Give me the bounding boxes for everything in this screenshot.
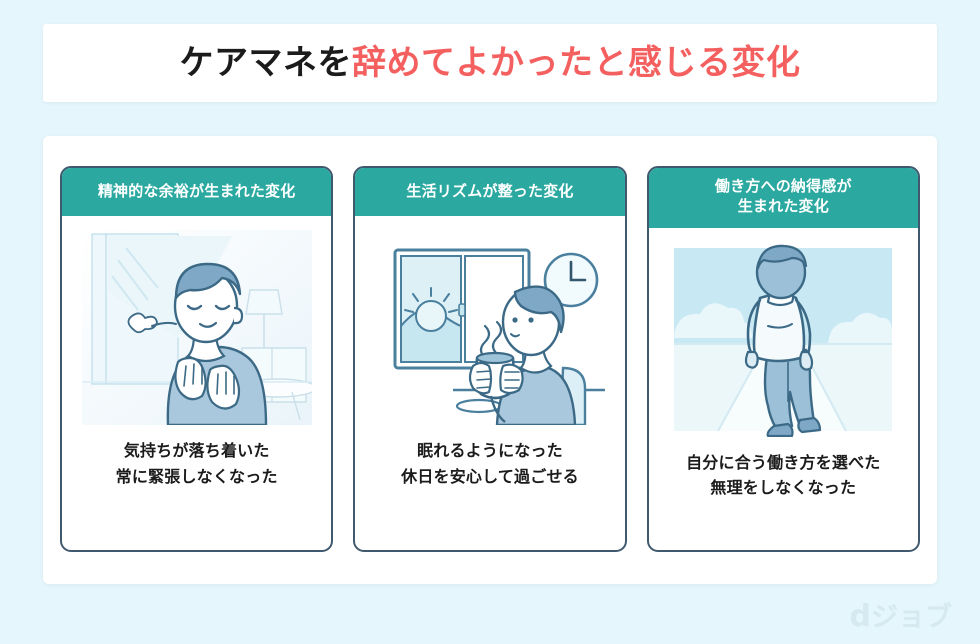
card-caption: 眠れるようになった 休日を安心して過ごせる — [401, 439, 579, 490]
card-header: 生活リズムが整った変化 — [355, 168, 624, 216]
card-body: 気持ちが落ち着いた 常に緊張しなくなった — [62, 216, 331, 550]
person-with-mug-at-sunrise-window-icon — [375, 230, 605, 425]
card-work-style[interactable]: 働き方への納得感が 生まれた変化 — [647, 166, 920, 552]
page-title-black-part: ケアマネを — [180, 44, 353, 82]
card-header: 精神的な余裕が生まれた変化 — [62, 168, 331, 216]
card-body: 自分に合う働き方を選べた 無理をしなくなった — [649, 228, 918, 551]
caption-line: 無理をしなくなった — [686, 476, 880, 502]
caption-line: 自分に合う働き方を選べた — [686, 451, 880, 477]
card-header-line: 生まれた変化 — [738, 197, 829, 217]
card-header: 働き方への納得感が 生まれた変化 — [649, 168, 918, 228]
page-title-red-part: 辞めてよかったと感じる変化 — [352, 44, 801, 82]
illustration-person-walking — [668, 242, 898, 437]
logo-d-mark: d — [850, 599, 871, 634]
caption-line: 休日を安心して過ごせる — [401, 465, 579, 491]
illustration-person-morning-coffee — [375, 230, 605, 425]
person-walking-down-road-icon — [668, 242, 898, 437]
page-title: ケアマネを辞めてよかったと感じる変化 — [180, 46, 801, 80]
illustration-person-relieved — [82, 230, 312, 425]
card-caption: 自分に合う働き方を選べた 無理をしなくなった — [686, 451, 880, 502]
card-mental-space[interactable]: 精神的な余裕が生まれた変化 — [60, 166, 333, 552]
logo-text: ジョブ — [871, 602, 952, 632]
caption-line: 気持ちが落ち着いた — [116, 439, 278, 465]
card-life-rhythm[interactable]: 生活リズムが整った変化 — [353, 166, 626, 552]
brand-logo: dジョブ — [850, 602, 952, 632]
person-relieved-hands-on-chest-icon — [82, 230, 312, 425]
card-caption: 気持ちが落ち着いた 常に緊張しなくなった — [116, 439, 278, 490]
card-header-line: 生活リズムが整った変化 — [406, 182, 573, 202]
content-panel: 精神的な余裕が生まれた変化 — [43, 136, 937, 584]
card-header-line: 精神的な余裕が生まれた変化 — [98, 182, 296, 202]
card-body: 眠れるようになった 休日を安心して過ごせる — [355, 216, 624, 550]
caption-line: 常に緊張しなくなった — [116, 465, 278, 491]
card-list: 精神的な余裕が生まれた変化 — [60, 166, 920, 552]
caption-line: 眠れるようになった — [401, 439, 579, 465]
card-header-line: 働き方への納得感が — [715, 177, 852, 197]
title-banner: ケアマネを辞めてよかったと感じる変化 — [43, 24, 937, 102]
